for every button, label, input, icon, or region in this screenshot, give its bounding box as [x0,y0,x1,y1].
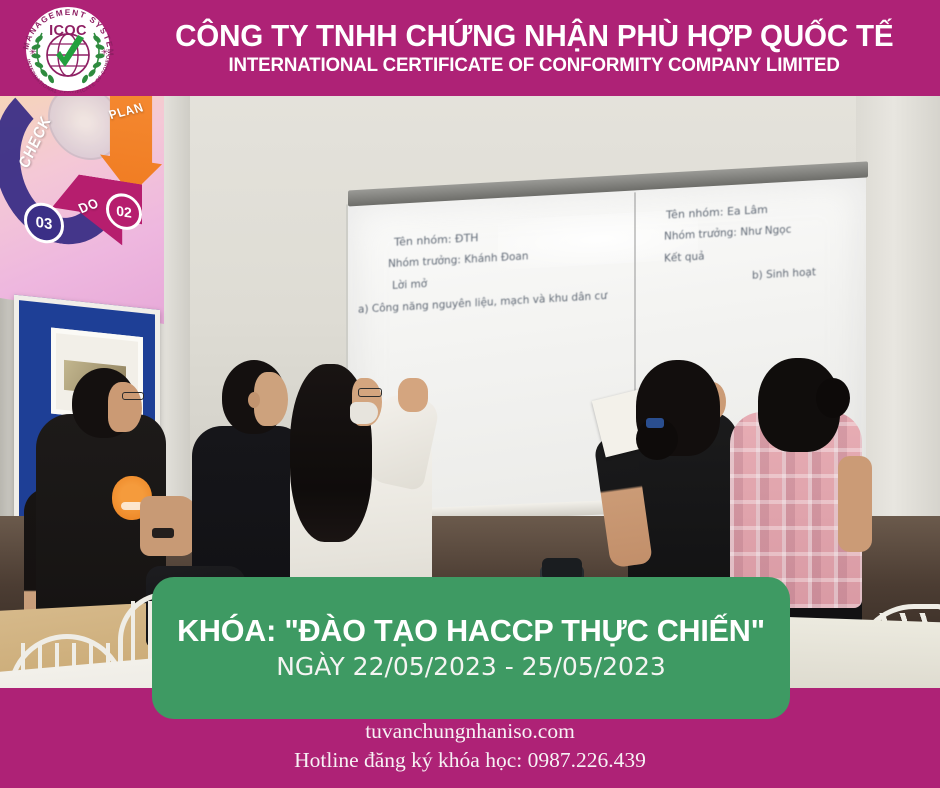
participant-1-watch [152,528,174,538]
whiteboard-note-left-3: Lời mở [392,278,427,292]
header-band: MANAGEMENT SYSTEMS INTERNATIONAL CERTIFI… [0,0,940,96]
course-title: KHÓA: "ĐÀO TẠO HACCP THỰC CHIẾN" [177,614,765,649]
company-name-en: INTERNATIONAL CERTIFICATE OF CONFORMITY … [228,55,839,76]
participant-1-glasses [122,392,144,400]
participant-4-hair-clip [646,418,664,428]
footer-website[interactable]: tuvanchungnhaniso.com [365,717,575,745]
svg-text:ICOC: ICOC [49,23,87,39]
whiteboard-note-right-3: Kết quả [664,250,705,264]
header-titles: CÔNG TY TNHH CHỨNG NHẬN PHÙ HỢP QUỐC TẾ … [128,0,940,96]
course-dates: NGÀY 22/05/2023 - 25/05/2023 [276,653,666,682]
water-bottle-cap [542,558,582,578]
whiteboard-note-left-4: a) Công năng nguyên liệu, mạch và khu dâ… [358,290,607,316]
participant-3-glasses [358,388,382,397]
footer-hotline[interactable]: Hotline đăng ký khóa học: 0987.226.439 [294,746,646,774]
participant-3-hand [398,378,428,412]
participant-5-hair-bun [816,378,850,418]
svg-text:✳: ✳ [101,47,109,57]
whiteboard-note-left-1: Tên nhóm: ĐTH [394,231,479,249]
company-name-vi: CÔNG TY TNHH CHỨNG NHẬN PHÙ HỢP QUỐC TẾ [175,20,893,54]
course-banner: KHÓA: "ĐÀO TẠO HACCP THỰC CHIẾN" NGÀY 22… [152,577,790,719]
participant-3-mask [350,402,378,424]
icoc-logo-svg: MANAGEMENT SYSTEMS INTERNATIONAL CERTIFI… [12,5,124,93]
svg-text:✳: ✳ [29,47,37,57]
pdca-poster: 03 02 CHECK DO PLAN [0,96,164,324]
whiteboard-note-right-1: Tên nhóm: Ea Lâm [666,203,768,222]
icoc-logo: MANAGEMENT SYSTEMS INTERNATIONAL CERTIFI… [8,2,128,95]
participant-1-forearm [140,496,196,556]
participant-1-face [108,382,142,432]
poster-root: MANAGEMENT SYSTEMS INTERNATIONAL CERTIFI… [0,0,940,788]
participant-2-ear [248,392,260,408]
whiteboard-note-right-4: b) Sinh hoạt [752,266,816,282]
participant-5-arm [838,456,872,552]
